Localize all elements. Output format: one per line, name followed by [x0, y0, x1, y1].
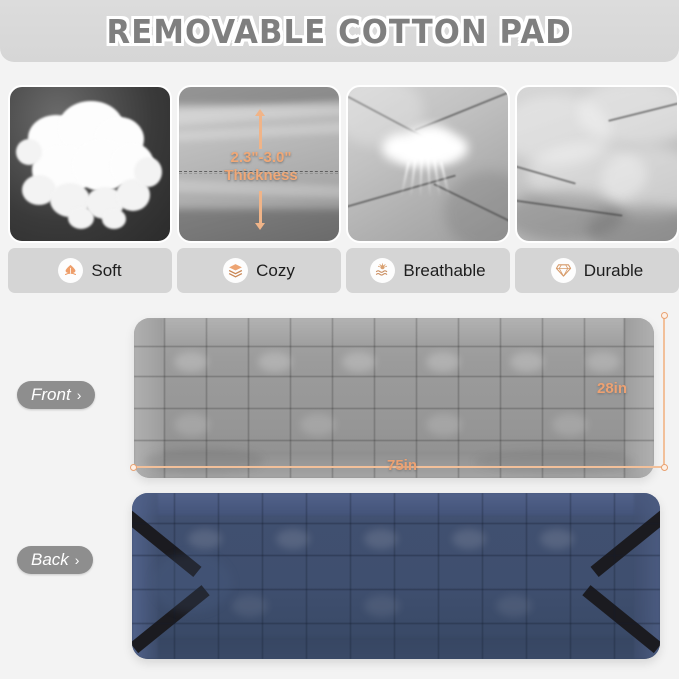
feature-label-text: Durable — [584, 261, 644, 281]
photo-durable — [515, 85, 679, 243]
photo-cotton-fill — [8, 85, 172, 243]
feature-card-soft: Soft — [8, 85, 172, 293]
navy-pad-body — [132, 493, 660, 659]
diamond-icon — [551, 258, 576, 283]
thickness-arrow-lower — [259, 191, 262, 225]
air-waves-icon — [370, 258, 395, 283]
chevron-right-icon: › — [75, 552, 80, 568]
feature-label-text: Cozy — [256, 261, 295, 281]
back-view-badge[interactable]: Back › — [17, 546, 93, 574]
cotton-fibers — [10, 87, 170, 241]
thickness-caption: Thickness — [179, 167, 341, 184]
width-dimension-label: 28in — [597, 380, 627, 397]
infographic-page: REMOVABLE COTTON PAD — [0, 0, 679, 679]
front-badge-label: Front — [31, 385, 71, 405]
chevron-right-icon: › — [77, 387, 82, 403]
feature-label-text: Soft — [91, 261, 121, 281]
header-band: REMOVABLE COTTON PAD — [0, 0, 679, 62]
photo-breathable — [346, 85, 510, 243]
page-title: REMOVABLE COTTON PAD — [107, 12, 572, 51]
cotton-puff-icon — [58, 258, 83, 283]
feature-label-breathable: Breathable — [346, 248, 510, 293]
feature-label-cozy: Cozy — [177, 248, 341, 293]
photo-thickness: 2.3"-3.0" Thickness — [177, 85, 341, 243]
front-cushion-image: 75in 28in — [126, 306, 671, 486]
feature-card-breathable: Breathable — [346, 85, 510, 293]
back-badge-label: Back — [31, 550, 69, 570]
feature-label-durable: Durable — [515, 248, 679, 293]
feature-label-text: Breathable — [403, 261, 485, 281]
thickness-arrow-upper — [259, 115, 262, 149]
back-cushion-image — [126, 487, 671, 667]
feature-label-soft: Soft — [8, 248, 172, 293]
stacked-layers-icon — [223, 258, 248, 283]
thickness-value: 2.3"-3.0" — [179, 149, 341, 166]
gray-pad-body — [134, 318, 654, 478]
feature-row: Soft 2.3"-3.0" Thickness — [8, 85, 671, 293]
length-dimension-label: 75in — [383, 457, 421, 474]
front-view-badge[interactable]: Front › — [17, 381, 95, 409]
feature-card-durable: Durable — [515, 85, 679, 293]
feature-card-cozy: 2.3"-3.0" Thickness Cozy — [177, 85, 341, 293]
width-dimension-line — [663, 314, 665, 468]
